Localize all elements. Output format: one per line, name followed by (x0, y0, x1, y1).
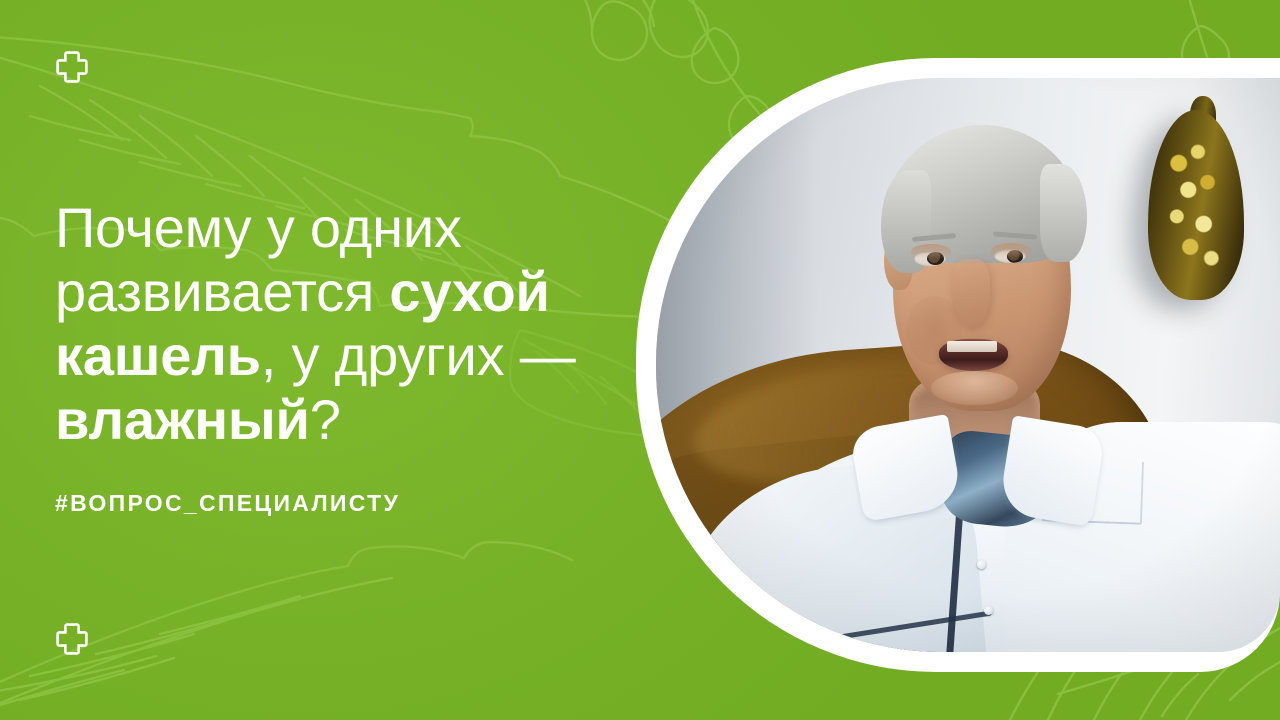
medical-cross-icon (55, 50, 89, 84)
text-block: Почему у одних развивается сухой кашель,… (55, 196, 655, 517)
nose (952, 259, 989, 328)
coat-button (984, 606, 993, 615)
person (656, 78, 1280, 652)
hashtag-label: #ВОПРОС_СПЕЦИАЛИСТУ (55, 490, 655, 517)
poster-canvas: Почему у одних развивается сухой кашель,… (0, 0, 1280, 720)
photo-clip (656, 78, 1280, 652)
teeth (947, 341, 997, 351)
headline-segment-3: влажный (55, 388, 310, 451)
page-title: Почему у одних развивается сухой кашель,… (55, 196, 655, 452)
hair-right-side (1040, 164, 1087, 262)
headline-segment-4: ? (310, 388, 341, 451)
eyelid-right (991, 243, 1031, 258)
medical-cross-icon (55, 622, 89, 656)
eyelid-left (911, 244, 951, 259)
speaker-photo (656, 78, 1280, 652)
headline-segment-2: , у других — (261, 324, 591, 387)
chin-highlight (931, 371, 1018, 405)
photo-frame (636, 58, 1280, 672)
